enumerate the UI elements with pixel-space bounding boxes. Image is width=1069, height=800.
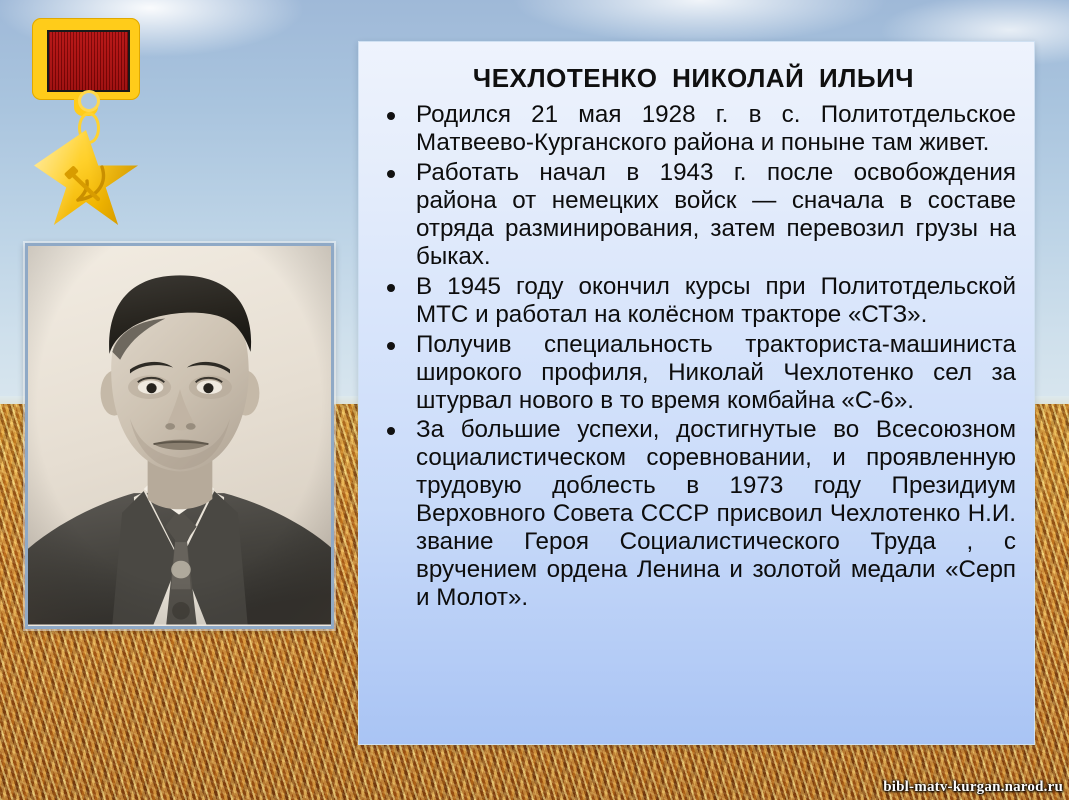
- portrait-photo: [28, 246, 331, 625]
- medal-gold-star: [34, 130, 138, 230]
- list-item: Получив специальность тракториста-машини…: [371, 331, 1016, 415]
- content-panel: ЧЕХЛОТЕНКО НИКОЛАЙ ИЛЬИЧ Родился 21 мая …: [358, 41, 1035, 745]
- page-title: ЧЕХЛОТЕНКО НИКОЛАЙ ИЛЬИЧ: [371, 63, 1016, 94]
- list-item: За большие успехи, достигнутые во Всесою…: [371, 416, 1016, 612]
- bullet-text: За большие успехи, достигнутые во Всесою…: [416, 416, 1016, 612]
- source-watermark: bibl-matv-kurgan.narod.ru: [883, 779, 1063, 796]
- bullet-text: Получив специальность тракториста-машини…: [416, 331, 1016, 415]
- medal-ring-upper: [78, 90, 100, 112]
- list-item: В 1945 году окончил курсы при Политотдел…: [371, 273, 1016, 329]
- bullet-text: В 1945 году окончил курсы при Политотдел…: [416, 273, 1016, 329]
- medal-red-ribbon: [47, 30, 130, 92]
- presentation-slide: ЧЕХЛОТЕНКО НИКОЛАЙ ИЛЬИЧ Родился 21 мая …: [0, 0, 1069, 800]
- list-item: Работать начал в 1943 г. после освобожде…: [371, 159, 1016, 271]
- list-item: Родился 21 мая 1928 г. в с. Политотдельс…: [371, 101, 1016, 157]
- medal-ribbon-bar: [32, 18, 140, 100]
- portrait-photo-frame: [25, 243, 334, 629]
- hammer-and-sickle-medal: [26, 18, 146, 228]
- bullet-text: Родился 21 мая 1928 г. в с. Политотдельс…: [416, 101, 1016, 157]
- hammer-and-sickle-icon: [58, 160, 116, 208]
- biography-bullet-list: Родился 21 мая 1928 г. в с. Политотдельс…: [371, 101, 1016, 612]
- bullet-text: Работать начал в 1943 г. после освобожде…: [416, 159, 1016, 271]
